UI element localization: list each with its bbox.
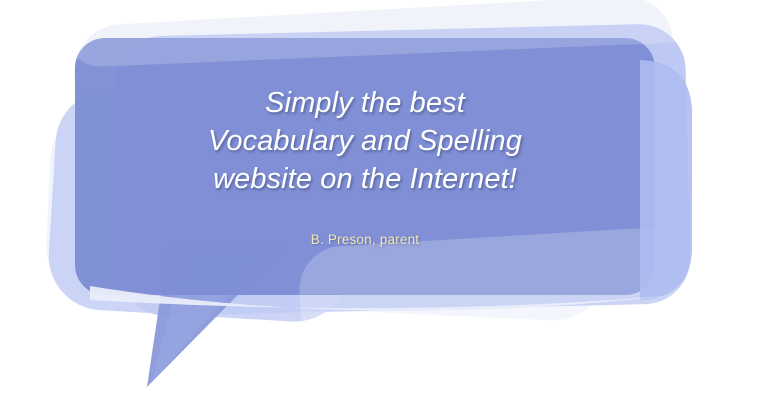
testimonial-banner: Simply the best Vocabulary and Spelling … — [0, 0, 770, 400]
speech-bubble-artwork — [0, 0, 770, 400]
blob-edge-right — [640, 60, 692, 300]
